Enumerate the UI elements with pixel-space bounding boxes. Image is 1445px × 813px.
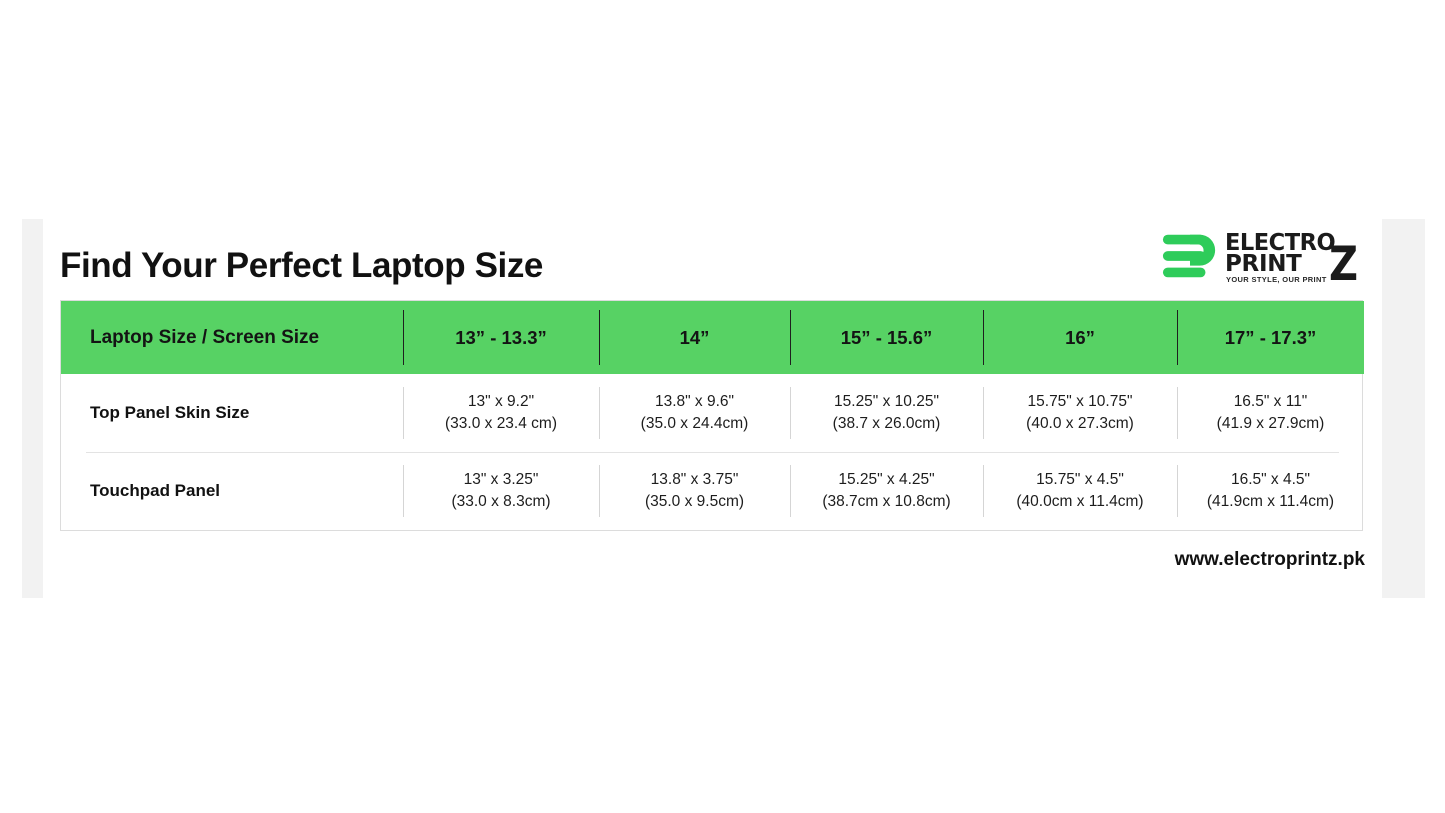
column-header-15in: 15” - 15.6” — [790, 301, 983, 374]
cell-touchpad-14in: 13.8" x 3.75" (35.0 x 9.5cm) — [599, 452, 790, 530]
column-header-17in: 17” - 17.3” — [1177, 301, 1364, 374]
header-bar: Find Your Perfect Laptop Size ELECTRO PR… — [60, 219, 1365, 300]
cell-touchpad-17in: 16.5" x 4.5" (41.9cm x 11.4cm) — [1177, 452, 1364, 530]
table-row: Top Panel Skin Size 13" x 9.2" (33.0 x 2… — [61, 374, 1364, 452]
cell-inches: 15.25" x 4.25" — [790, 469, 983, 491]
laptop-size-table: Laptop Size / Screen Size 13” - 13.3” 14… — [61, 301, 1364, 530]
cell-touchpad-13in: 13" x 3.25" (33.0 x 8.3cm) — [403, 452, 599, 530]
backdrop-band-right — [1382, 219, 1425, 598]
cell-inches: 13.8" x 3.75" — [599, 469, 790, 491]
row-label-top-panel-skin-size: Top Panel Skin Size — [61, 374, 403, 452]
brand-logo: ELECTRO PRINT Z YOUR STYLE, OUR PRINT — [1161, 225, 1365, 287]
cell-centimeters: (33.0 x 8.3cm) — [403, 491, 599, 513]
cell-centimeters: (41.9 x 27.9cm) — [1177, 413, 1364, 435]
cell-inches: 16.5" x 4.5" — [1177, 469, 1364, 491]
cell-inches: 15.75" x 10.75" — [983, 391, 1177, 413]
table-header: Laptop Size / Screen Size 13” - 13.3” 14… — [61, 301, 1364, 374]
cell-centimeters: (35.0 x 9.5cm) — [599, 491, 790, 513]
backdrop-band-left — [22, 219, 43, 598]
column-header-16in: 16” — [983, 301, 1177, 374]
cell-touchpad-16in: 15.75" x 4.5" (40.0cm x 11.4cm) — [983, 452, 1177, 530]
column-header-14in: 14” — [599, 301, 790, 374]
cell-inches: 16.5" x 11" — [1177, 391, 1364, 413]
row-label-touchpad-panel: Touchpad Panel — [61, 452, 403, 530]
cell-top-panel-17in: 16.5" x 11" (41.9 x 27.9cm) — [1177, 374, 1364, 452]
site-url: www.electroprintz.pk — [1175, 549, 1365, 571]
page-title: Find Your Perfect Laptop Size — [60, 246, 543, 286]
column-header-laptop-size: Laptop Size / Screen Size — [61, 301, 403, 374]
cell-centimeters: (33.0 x 23.4 cm) — [403, 413, 599, 435]
cell-centimeters: (40.0cm x 11.4cm) — [983, 491, 1177, 513]
cell-top-panel-15in: 15.25" x 10.25" (38.7 x 26.0cm) — [790, 374, 983, 452]
cell-inches: 15.25" x 10.25" — [790, 391, 983, 413]
cell-inches: 15.75" x 4.5" — [983, 469, 1177, 491]
cell-centimeters: (38.7cm x 10.8cm) — [790, 491, 983, 513]
cell-centimeters: (41.9cm x 11.4cm) — [1177, 491, 1364, 513]
cell-inches: 13" x 9.2" — [403, 391, 599, 413]
cell-inches: 13" x 3.25" — [403, 469, 599, 491]
table-row: Touchpad Panel 13" x 3.25" (33.0 x 8.3cm… — [61, 452, 1364, 530]
brand-tagline: YOUR STYLE, OUR PRINT — [1226, 275, 1327, 284]
brand-wordmark: ELECTRO PRINT Z YOUR STYLE, OUR PRINT — [1225, 227, 1365, 285]
cell-centimeters: (38.7 x 26.0cm) — [790, 413, 983, 435]
table-body: Top Panel Skin Size 13" x 9.2" (33.0 x 2… — [61, 374, 1364, 530]
cell-top-panel-16in: 15.75" x 10.75" (40.0 x 27.3cm) — [983, 374, 1177, 452]
cell-centimeters: (40.0 x 27.3cm) — [983, 413, 1177, 435]
cell-touchpad-15in: 15.25" x 4.25" (38.7cm x 10.8cm) — [790, 452, 983, 530]
page-canvas: Find Your Perfect Laptop Size ELECTRO PR… — [0, 0, 1445, 813]
cell-top-panel-13in: 13" x 9.2" (33.0 x 23.4 cm) — [403, 374, 599, 452]
cell-top-panel-14in: 13.8" x 9.6" (35.0 x 24.4cm) — [599, 374, 790, 452]
cell-centimeters: (35.0 x 24.4cm) — [599, 413, 790, 435]
infographic-content: Find Your Perfect Laptop Size ELECTRO PR… — [60, 219, 1365, 598]
table-header-row: Laptop Size / Screen Size 13” - 13.3” 14… — [61, 301, 1364, 374]
cell-inches: 13.8" x 9.6" — [599, 391, 790, 413]
column-header-13in: 13” - 13.3” — [403, 301, 599, 374]
laptop-size-table-container: Laptop Size / Screen Size 13” - 13.3” 14… — [60, 300, 1363, 531]
brand-name-accent-z: Z — [1329, 241, 1358, 288]
brand-name-line2: PRINT — [1225, 251, 1302, 277]
electroprintz-mark-icon — [1161, 227, 1219, 285]
